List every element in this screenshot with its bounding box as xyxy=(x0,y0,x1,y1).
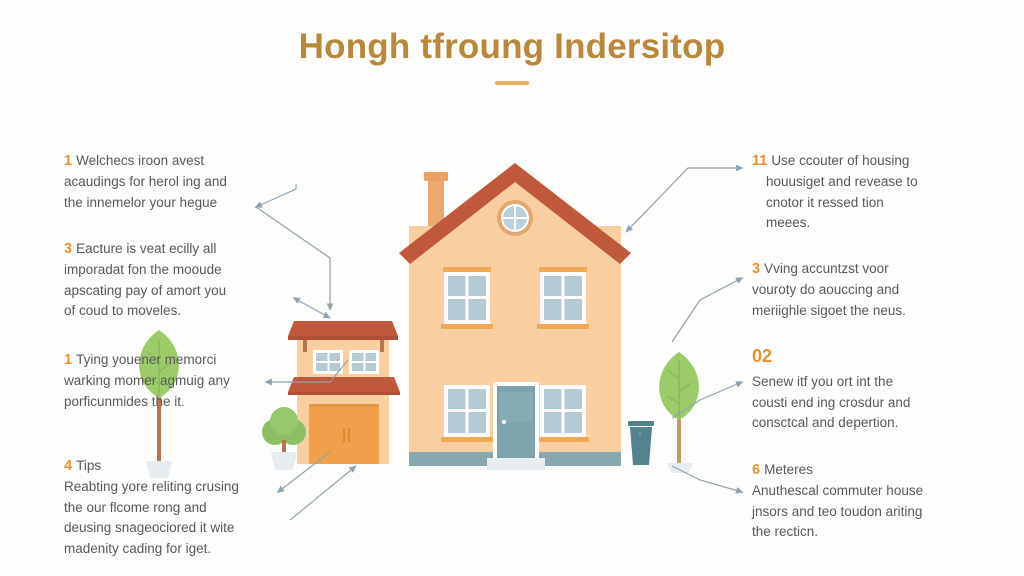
garage-bracket-left xyxy=(303,340,307,352)
callout-right-2-number: 3 xyxy=(752,261,760,277)
garage-window-left xyxy=(313,350,343,374)
lower-right-window xyxy=(537,385,589,442)
trash-bin xyxy=(628,421,654,465)
callout-left-4-label: Tips xyxy=(76,458,101,473)
bush-stem xyxy=(282,440,286,454)
callout-right-3-line-2: cousti end ing crosdur and xyxy=(752,393,964,414)
tree-right-pot xyxy=(667,463,693,473)
callout-left-1-line-1: Welchecs iroon avest xyxy=(76,153,204,168)
callout-left-4-head: 4Tips xyxy=(64,455,286,477)
callout-left-4: 4Tips Reabting yore reliting crusing the… xyxy=(64,455,286,559)
callout-right-1-line-3: cnotor it ressed tion xyxy=(752,193,964,214)
callout-right-1-line-2: houusiget and revease to xyxy=(752,172,964,193)
callout-left-1-line-3: the innemelor your hegue xyxy=(64,193,280,214)
callout-left-1-line-2: acaudings for herol ing and xyxy=(64,172,280,193)
main-house xyxy=(399,163,631,470)
infographic-canvas: Hongh tfroung Indersitop xyxy=(0,0,1024,576)
round-attic-window xyxy=(497,200,533,236)
callout-right-1-number: 11 xyxy=(752,153,767,169)
callout-left-2-line-4: of coud to moveles. xyxy=(64,301,280,322)
callout-right-2-line-1: Vving accuntzst voor xyxy=(764,261,889,276)
callout-left-3-line-1: Tying youener memorci xyxy=(76,352,216,367)
garage-roof-upper xyxy=(288,321,398,336)
callout-right-4-head: 6Meteres xyxy=(752,459,968,481)
callout-left-3-head: 1Tying youener memorci xyxy=(64,349,280,371)
callout-left-2-number: 3 xyxy=(64,241,72,257)
callout-left-2: 3Eacture is veat ecilly all imporadat fo… xyxy=(64,238,280,322)
garage-window-right xyxy=(349,350,379,374)
callout-right-3-head: 02 xyxy=(752,343,964,370)
callout-left-4-line-3: deusing snageociored it wite xyxy=(64,518,286,539)
callout-right-3-number: 02 xyxy=(752,343,960,370)
callout-left-4-line-2: the our flcome rong and xyxy=(64,498,286,519)
bin-body xyxy=(630,427,652,465)
lower-left-window xyxy=(441,385,493,442)
garage-annex xyxy=(288,321,400,464)
garage-bracket-right xyxy=(380,340,384,352)
callout-right-2-line-2: vouroty do aouccing and xyxy=(752,280,964,301)
callout-right-1-line-1: Use ccouter of housing xyxy=(771,153,909,168)
callout-right-3-line-1: Senew itf you ort int the xyxy=(752,372,964,393)
callout-left-3-line-3: porficunmides the it. xyxy=(64,392,280,413)
chimney-stack xyxy=(428,178,444,226)
callout-left-1-head: 1Welchecs iroon avest xyxy=(64,150,280,172)
callout-left-2-line-2: imporadat fon the mooude xyxy=(64,260,280,281)
callout-right-4-number: 6 xyxy=(752,462,760,478)
callout-right-1-head: 11Use ccouter of housing xyxy=(752,150,964,172)
callout-left-2-head: 3Eacture is veat ecilly all xyxy=(64,238,280,260)
door-step xyxy=(487,458,545,470)
callout-left-3-line-2: warking momer agmuig any xyxy=(64,371,280,392)
callout-right-2-line-3: meriighle sigoet the neus. xyxy=(752,301,964,322)
callout-left-3: 1Tying youener memorci warking momer agm… xyxy=(64,349,280,412)
callout-right-4-line-2: jnsors and teo toudon ariting xyxy=(752,502,968,523)
bin-detail xyxy=(638,432,641,435)
garage-door-top-trim xyxy=(309,404,379,407)
callout-left-3-number: 1 xyxy=(64,352,72,368)
chimney-cap xyxy=(424,172,448,181)
callout-right-4-label: Meteres xyxy=(764,462,813,477)
garage-door-handle-right xyxy=(348,428,350,442)
callout-left-2-line-1: Eacture is veat ecilly all xyxy=(76,241,216,256)
callout-right-3: 02 Senew itf you ort int the cousti end … xyxy=(752,343,964,434)
upper-right-window xyxy=(537,267,589,329)
callout-right-4: 6Meteres Anuthescal commuter house jnsor… xyxy=(752,459,968,543)
garage-door-handle-left xyxy=(343,428,345,442)
callout-left-2-line-3: apscating pay of amort you xyxy=(64,281,280,302)
garage-roof-lower xyxy=(288,377,400,392)
callout-left-4-number: 4 xyxy=(64,458,72,474)
upper-left-window xyxy=(441,267,493,329)
callout-right-1: 11Use ccouter of housing houusiget and r… xyxy=(752,150,964,234)
callout-right-2: 3Vving accuntzst voor vouroty do aouccin… xyxy=(752,258,964,321)
front-door xyxy=(493,382,539,458)
callout-right-2-head: 3Vving accuntzst voor xyxy=(752,258,964,280)
bin-lid xyxy=(628,421,654,426)
callout-right-3-line-3: consctcal and depertion. xyxy=(752,413,964,434)
callout-left-1: 1Welchecs iroon avest acaudings for hero… xyxy=(64,150,280,213)
garage-roof-upper-edge xyxy=(288,336,398,340)
tree-right xyxy=(659,352,699,473)
door-knob xyxy=(502,420,506,424)
callout-left-4-line-1: Reabting yore reliting crusing xyxy=(64,477,286,498)
callout-right-1-line-4: meees. xyxy=(752,213,964,234)
callout-left-4-line-4: madenity cading for iget. xyxy=(64,539,286,560)
callout-right-4-line-3: the recticn. xyxy=(752,522,968,543)
callout-right-4-line-1: Anuthescal commuter house xyxy=(752,481,968,502)
garage-roof-lower-edge xyxy=(288,392,400,395)
callout-left-1-number: 1 xyxy=(64,153,72,169)
